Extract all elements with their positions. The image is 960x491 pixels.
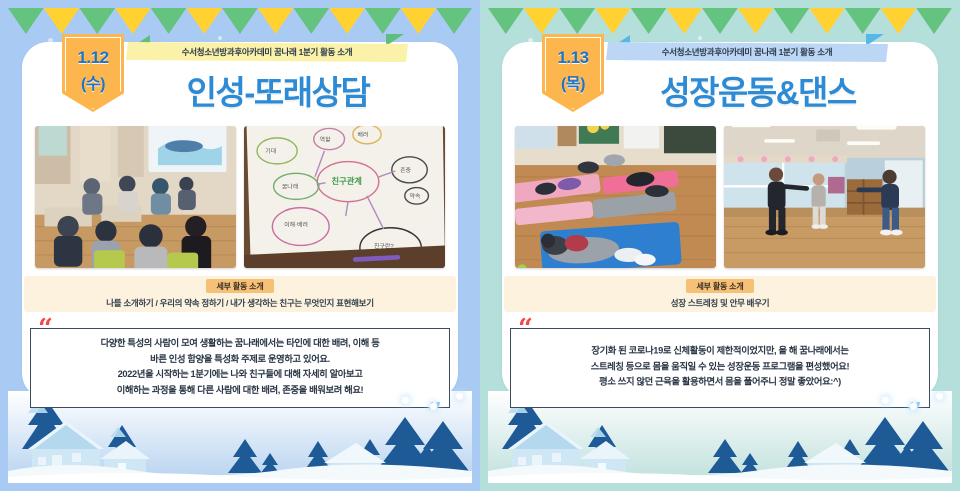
photo-classroom-circle: [35, 126, 236, 268]
detail-tag-label: 세부 활동 소개: [686, 279, 753, 293]
bunting-triangle: [151, 8, 187, 34]
bunting-triangle: [436, 8, 472, 34]
card-title-text: 성장운동&댄스: [660, 66, 856, 114]
svg-text:역할: 역할: [320, 135, 331, 143]
bunting-triangle: [79, 8, 115, 34]
detail-strip: 세부 활동 소개 나를 소개하기 / 우리의 약속 정하기 / 내가 생각하는 …: [24, 276, 456, 312]
bunting-triangle: [916, 8, 952, 34]
date-badge-day: 1.13: [542, 48, 604, 68]
bunting-triangle: [401, 8, 437, 34]
quote-line: 이해하는 과정을 통해 다른 사람에 대한 배려, 존중을 배워보려 해요!: [45, 384, 435, 397]
bunting-triangle: [595, 8, 631, 34]
quote-line: 바른 인성 함양을 특성화 주제로 운영하고 있어요.: [45, 352, 435, 365]
snowflake-sparkle-icon: ✹: [908, 399, 919, 415]
detail-activity-text: 성장 스트레칭 및 안무 배우기: [671, 297, 770, 309]
bunting-triangle: [881, 8, 917, 34]
card-inner: 1.12 (수) 수서청소년방과후아카데미 꿈나래 1분기 활동 소개 인성-또…: [8, 8, 472, 483]
photo-row: [515, 126, 925, 268]
date-badge-weekday: (목): [542, 70, 604, 94]
quote-box: 장기화 된 코로나19로 신체활동이 제한적이었지만, 올 해 꿈나래에서는스트…: [510, 328, 930, 408]
photo-row: 친구관계 꿈나래기대역할 배려존중약속 이해·배려친구란?: [35, 126, 445, 268]
bunting-triangle: [524, 8, 560, 34]
card-title: 인성-또래상담: [104, 66, 452, 114]
svg-text:약속: 약속: [410, 192, 421, 200]
svg-text:꿈나래: 꿈나래: [282, 183, 298, 191]
bunting-triangle: [115, 8, 151, 34]
photo-mindmap: 친구관계 꿈나래기대역할 배려존중약속 이해·배려친구란?: [244, 126, 445, 268]
date-badge-weekday: (수): [62, 70, 124, 94]
bunting-triangle: [738, 8, 774, 34]
snowflake-sparkle-icon: ✹: [880, 393, 891, 409]
quote-line: 장기화 된 코로나19로 신체활동이 제한적이었지만, 올 해 꿈나래에서는: [525, 345, 915, 358]
svg-text:배려: 배려: [358, 131, 369, 139]
bunting-triangle: [559, 8, 595, 34]
ribbon-body: 수서청소년방과후아카데미 꿈나래 1분기 활동 소개: [126, 42, 408, 62]
bunting-triangle: [258, 8, 294, 34]
quote-block: “ 다양한 특성의 사람이 모여 생활하는 꿈나래에서는 타인에 대한 배려, …: [30, 320, 450, 416]
bunting-triangle: [845, 8, 881, 34]
quote-block: “ 장기화 된 코로나19로 신체활동이 제한적이었지만, 올 해 꿈나래에서는…: [510, 320, 930, 416]
bunting-triangle: [365, 8, 401, 34]
bunting-garland: [8, 8, 472, 34]
bunting-triangle: [186, 8, 222, 34]
snowflake-sparkle-icon: ✹: [400, 393, 411, 409]
sky-dot: [218, 36, 222, 40]
quote-line: 평소 쓰지 않던 근육을 활용하면서 몸을 풀어주니 정말 좋았어요:^): [525, 376, 915, 389]
header-ribbon: 수서청소년방과후아카데미 꿈나래 1분기 활동 소개: [606, 42, 888, 62]
snowflake-sparkle-icon: ✹: [454, 389, 465, 405]
bunting-triangle: [8, 8, 44, 34]
bunting-triangle: [329, 8, 365, 34]
card-left: 1.12 (수) 수서청소년방과후아카데미 꿈나래 1분기 활동 소개 인성-또…: [0, 0, 480, 491]
bunting-triangle: [631, 8, 667, 34]
svg-text:기대: 기대: [265, 147, 276, 155]
bunting-garland: [488, 8, 952, 34]
bunting-triangle: [702, 8, 738, 34]
bunting-triangle: [774, 8, 810, 34]
quote-line: 2022년을 시작하는 1분기에는 나와 친구들에 대해 자세히 알아보고: [45, 368, 435, 381]
ribbon-text: 수서청소년방과후아카데미 꿈나래 1분기 활동 소개: [182, 46, 353, 58]
detail-tag-label: 세부 활동 소개: [206, 279, 273, 293]
bunting-triangle: [809, 8, 845, 34]
svg-text:친구관계: 친구관계: [331, 176, 361, 186]
bunting-triangle: [488, 8, 524, 34]
bunting-triangle: [222, 8, 258, 34]
sky-dot: [698, 36, 702, 40]
photo-dance-practice: [724, 126, 925, 268]
quote-box: 다양한 특성의 사람이 모여 생활하는 꿈나래에서는 타인에 대한 배려, 이해…: [30, 328, 450, 408]
quote-lines: 다양한 특성의 사람이 모여 생활하는 꿈나래에서는 타인에 대한 배려, 이해…: [45, 337, 435, 399]
bunting-triangle: [294, 8, 330, 34]
ribbon-text: 수서청소년방과후아카데미 꿈나래 1분기 활동 소개: [662, 46, 833, 58]
date-badge-day: 1.12: [62, 48, 124, 68]
quote-line: 다양한 특성의 사람이 모여 생활하는 꿈나래에서는 타인에 대한 배려, 이해…: [45, 337, 435, 350]
card-right: 1.13 (목) 수서청소년방과후아카데미 꿈나래 1분기 활동 소개 성장운동…: [480, 0, 960, 491]
snowflake-sparkle-icon: ✹: [428, 399, 439, 415]
poster-pair: 1.12 (수) 수서청소년방과후아카데미 꿈나래 1분기 활동 소개 인성-또…: [0, 0, 960, 491]
header-ribbon: 수서청소년방과후아카데미 꿈나래 1분기 활동 소개: [126, 42, 408, 62]
svg-text:이해·배려: 이해·배려: [284, 221, 308, 229]
snowflake-sparkle-icon: ✹: [934, 389, 945, 405]
quote-line: 스트레칭 등으로 몸을 움직일 수 있는 성장운동 프로그램을 편성했어요!: [525, 360, 915, 373]
card-title-text: 인성-또래상담: [187, 66, 370, 114]
card-inner: 1.13 (목) 수서청소년방과후아카데미 꿈나래 1분기 활동 소개 성장운동…: [488, 8, 952, 483]
quote-lines: 장기화 된 코로나19로 신체활동이 제한적이었지만, 올 해 꿈나래에서는스트…: [525, 345, 915, 392]
detail-strip: 세부 활동 소개 성장 스트레칭 및 안무 배우기: [504, 276, 936, 312]
ribbon-body: 수서청소년방과후아카데미 꿈나래 1분기 활동 소개: [606, 42, 888, 62]
detail-activity-text: 나를 소개하기 / 우리의 약속 정하기 / 내가 생각하는 친구는 무엇인지 …: [106, 297, 373, 309]
photo-stretching-mats: [515, 126, 716, 268]
card-title: 성장운동&댄스: [584, 66, 932, 114]
bunting-triangle: [44, 8, 80, 34]
bunting-triangle: [666, 8, 702, 34]
svg-text:존중: 존중: [400, 167, 411, 174]
